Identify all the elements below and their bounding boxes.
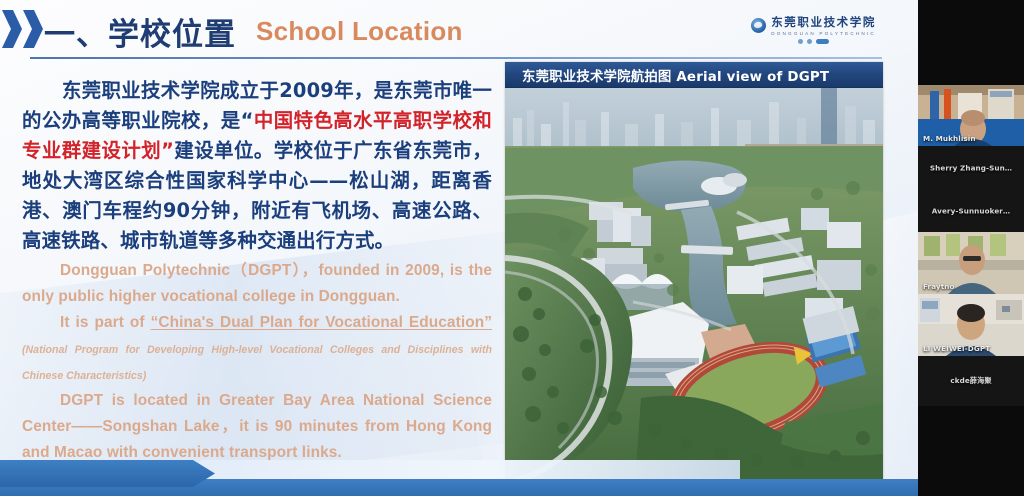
participant-tile[interactable]: M. Mukhlisin [918,85,1024,146]
school-emblem-icon [751,18,766,33]
photo-caption-bar: 东莞职业技术学院航拍图 Aerial view of DGPT [505,62,883,88]
en-p2-note: (National Program for Developing High-le… [22,344,492,382]
slide-text-column: 东莞职业技术学院成立于2009年，是东莞市唯一的公办高等职业院校，是“中国特色高… [22,76,492,466]
participant-name: Fraytno [923,282,955,291]
participant-name: ckde薛海聚 [918,376,1024,386]
campus-aerial-photo: 东莞职业技术学院航拍图 Aerial view of DGPT [505,62,883,482]
participant-tile[interactable]: Avery-Sunnuoker… [918,189,1024,232]
en-p2-pre: It is part of [60,314,151,331]
double-chevron-right-icon [2,10,43,48]
paragraph-english-1: Dongguan Polytechnic（DGPT），founded in 20… [22,258,492,310]
footer-highlight [180,460,740,479]
page-title-cn: 一、学校位置 [44,9,236,54]
logo-name-cn: 东莞职业技术学院 [771,14,876,30]
header-divider [30,57,882,59]
participant-tile[interactable]: Fraytno [918,232,1024,294]
photo-caption-text: 东莞职业技术学院航拍图 Aerial view of DGPT [522,65,829,85]
panel-top-spacer [918,0,1024,85]
cn-quote-close: ” [161,139,174,162]
chevron-right-icon [2,10,22,48]
page-title-en: School Location [256,16,463,47]
school-logo: 东莞职业技术学院 DONGGUAN POLYTECHNIC [751,14,876,44]
en-p2-link: “China's Dual Plan for Vocational Educat… [151,314,492,331]
participant-name: Sherry Zhang-Sun… [918,163,1024,172]
panel-bottom-spacer [918,406,1024,496]
paragraph-english-3: DGPT is located in Greater Bay Area Nati… [22,388,492,466]
participant-tile[interactable]: Sherry Zhang-Sun… [918,146,1024,189]
participant-name: Avery-Sunnuoker… [918,206,1024,215]
participant-name: LI WEIWEI-DGPT [923,344,990,353]
slide-header: 一、学校位置 School Location 东莞职业技术学院 DONGGUAN… [0,0,918,58]
paragraph-english-2: It is part of “China's Dual Plan for Voc… [22,310,492,388]
aerial-view-illustration [505,62,883,482]
participant-tile[interactable]: LI WEIWEI-DGPT [918,294,1024,356]
participant-tile[interactable]: ckde薛海聚 [918,356,1024,406]
presentation-slide: 一、学校位置 School Location 东莞职业技术学院 DONGGUAN… [0,0,918,496]
chevron-right-icon [23,10,43,48]
video-participants-panel[interactable]: M. Mukhlisin Sherry Zhang-Sun… Avery-Sun… [918,0,1024,496]
cn-quote-open: “ [241,109,254,132]
logo-name-en: DONGGUAN POLYTECHNIC [771,31,876,36]
screen: 一、学校位置 School Location 东莞职业技术学院 DONGGUAN… [0,0,1024,496]
footer-tab-shape [0,460,215,487]
slide-footer [0,460,918,496]
participant-name: M. Mukhlisin [923,134,976,143]
logo-dot-decoration [798,39,829,44]
paragraph-chinese: 东莞职业技术学院成立于2009年，是东莞市唯一的公办高等职业院校，是“中国特色高… [22,76,492,256]
